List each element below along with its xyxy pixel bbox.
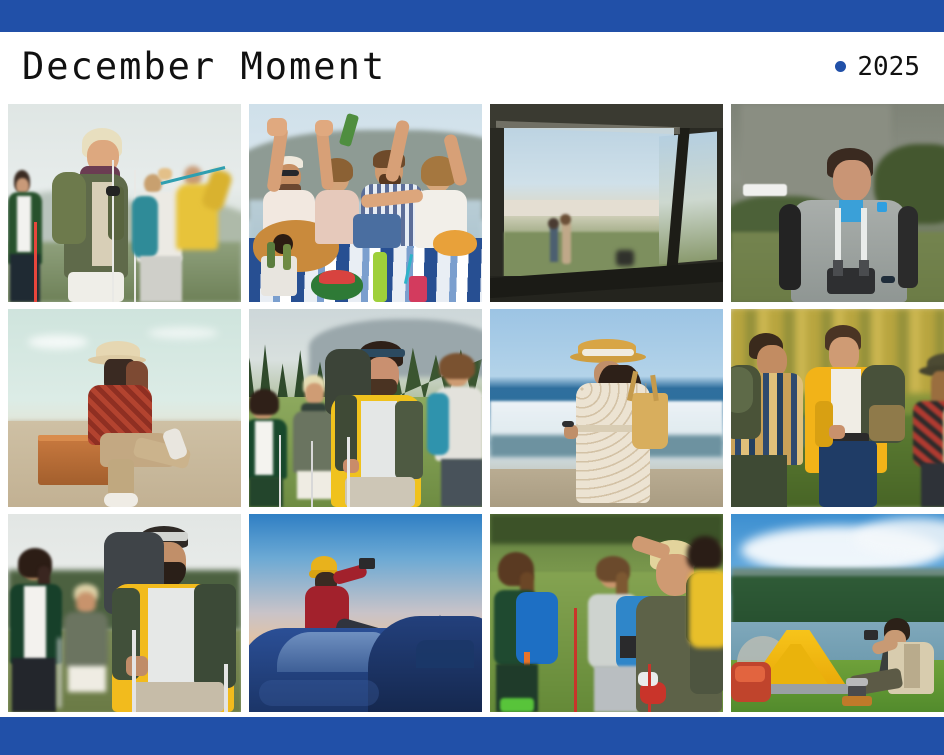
- photo-cell-9[interactable]: [8, 514, 241, 712]
- year-label: 2025: [857, 54, 920, 80]
- photo-backpacker-group-field: [8, 514, 241, 712]
- photo-beach-walk-ocean: [490, 309, 723, 507]
- photo-cell-7[interactable]: [490, 309, 723, 507]
- page-title: December Moment: [22, 48, 386, 85]
- photo-beach-picnic-party: [249, 104, 482, 302]
- photo-cell-3[interactable]: [490, 104, 723, 302]
- bullet-dot-icon: [835, 61, 846, 72]
- photo-lakeside-camping: [731, 514, 944, 712]
- poster-header: December Moment 2025: [0, 32, 944, 101]
- photo-cell-12[interactable]: [731, 514, 944, 712]
- photo-cell-1[interactable]: [8, 104, 241, 302]
- photo-alpine-meadow-hike: [249, 309, 482, 507]
- photo-cell-11[interactable]: [490, 514, 723, 712]
- year-badge: 2025: [835, 54, 930, 80]
- photo-cell-6[interactable]: [249, 309, 482, 507]
- photo-grid: [8, 104, 944, 712]
- poster-page: December Moment 2025: [0, 0, 944, 755]
- photo-cell-8[interactable]: [731, 309, 944, 507]
- photo-cell-10[interactable]: [249, 514, 482, 712]
- top-brand-bar: [0, 0, 944, 32]
- bottom-brand-bar: [0, 717, 944, 755]
- photo-autumn-valley-hikers: [731, 309, 944, 507]
- photo-van-window-beach: [490, 104, 723, 302]
- photo-cell-4[interactable]: [731, 104, 944, 302]
- photo-hillside-trekkers: [490, 514, 723, 712]
- photo-cell-5[interactable]: [8, 309, 241, 507]
- photo-drone-pilot-cliff: [731, 104, 944, 302]
- photo-mountain-hiking: [8, 104, 241, 302]
- photo-cell-2[interactable]: [249, 104, 482, 302]
- photo-desert-suitcase: [8, 309, 241, 507]
- photo-car-roof-sunset: [249, 514, 482, 712]
